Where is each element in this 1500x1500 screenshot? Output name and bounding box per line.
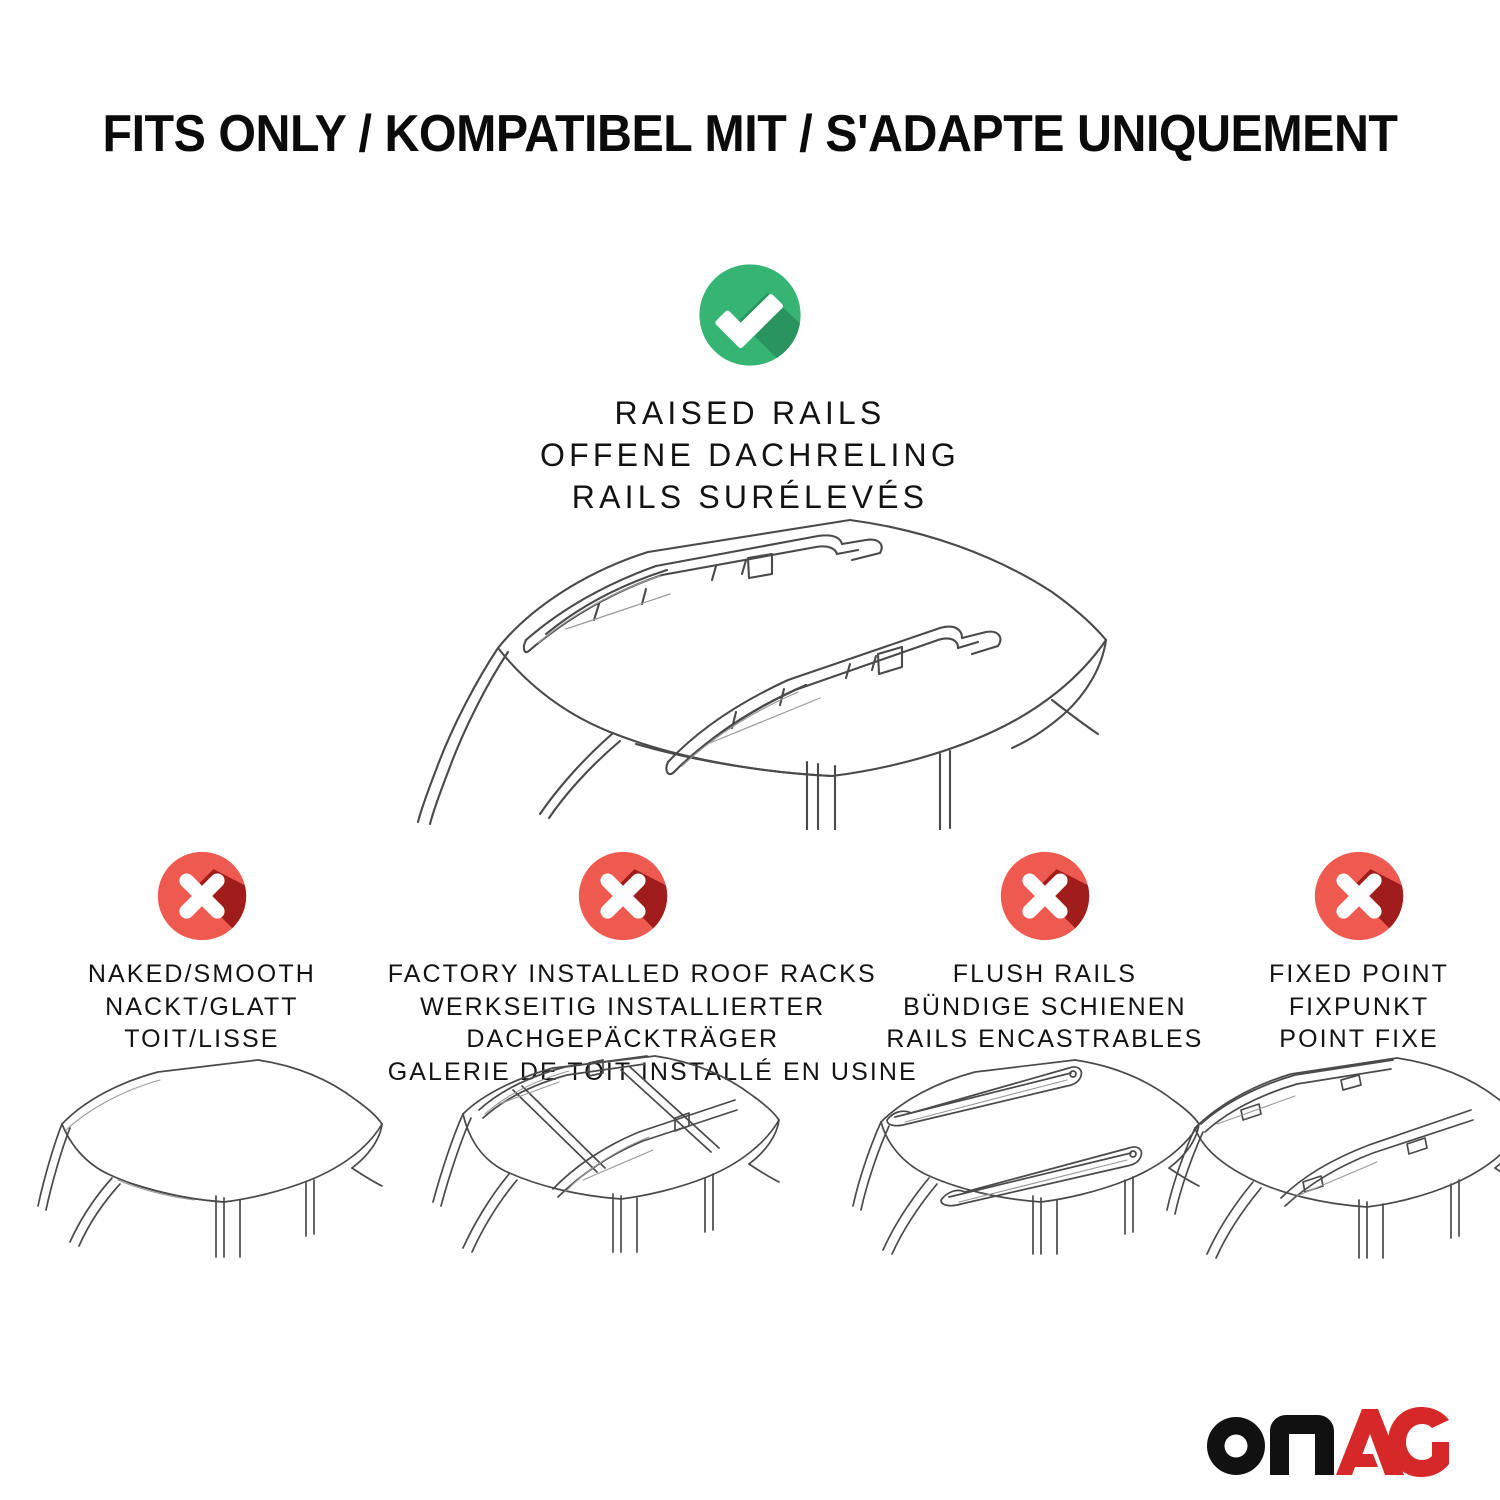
incompatible-diagrams (0, 1052, 1500, 1312)
omac-logo (1202, 1406, 1452, 1478)
caption-line: NACKT/GLATT (28, 991, 376, 1024)
incompatible-caption: FLUSH RAILS BÜNDIGE SCHIENEN RAILS ENCAS… (876, 958, 1214, 1056)
factory-roof-rack-diagram (425, 1052, 825, 1312)
incompatible-caption: FIXED POINT FIXPUNKT POINT FIXE (1218, 958, 1500, 1056)
compatible-caption-line-2: OFFENE DACHRELING (0, 434, 1500, 476)
logo-letter-o (1207, 1417, 1265, 1475)
raised-rails-roof-diagram (380, 500, 1120, 830)
caption-line: NAKED/SMOOTH (28, 958, 376, 991)
cross-circle-icon (997, 848, 1093, 944)
incompatible-item-naked-smooth: NAKED/SMOOTH NACKT/GLATT TOIT/LISSE (28, 848, 376, 1056)
incompatible-item-fixed-point: FIXED POINT FIXPUNKT POINT FIXE (1218, 848, 1500, 1056)
logo-letter-m (1270, 1415, 1334, 1475)
caption-line: FLUSH RAILS (876, 958, 1214, 991)
caption-line: WERKSEITIG INSTALLIERTER (388, 991, 858, 1024)
compatible-caption-line-1: RAISED RAILS (0, 392, 1500, 434)
caption-line: DACHGEPÄCKTRÄGER (388, 1023, 858, 1056)
caption-line: BÜNDIGE SCHIENEN (876, 991, 1214, 1024)
caption-line: FIXPUNKT (1218, 991, 1500, 1024)
cross-circle-icon (575, 848, 671, 944)
caption-line: TOIT/LISSE (28, 1023, 376, 1056)
caption-line: FIXED POINT (1218, 958, 1500, 991)
incompatible-caption: NAKED/SMOOTH NACKT/GLATT TOIT/LISSE (28, 958, 376, 1056)
page-title: FITS ONLY / KOMPATIBEL MIT / S'ADAPTE UN… (53, 104, 1448, 164)
caption-line: RAILS ENCASTRABLES (876, 1023, 1214, 1056)
incompatible-item-flush-rails: FLUSH RAILS BÜNDIGE SCHIENEN RAILS ENCAS… (876, 848, 1214, 1056)
cross-circle-icon (1311, 848, 1407, 944)
logo-letter-c (1388, 1407, 1449, 1477)
naked-smooth-roof-diagram (30, 1052, 430, 1312)
check-circle-icon (695, 260, 805, 370)
compatible-section: RAISED RAILS OFFENE DACHRELING RAILS SUR… (0, 260, 1500, 519)
caption-line: FACTORY INSTALLED ROOF RACKS (388, 958, 858, 991)
cross-circle-icon (154, 848, 250, 944)
caption-line: POINT FIXE (1218, 1023, 1500, 1056)
fixed-point-roof-diagram (1145, 1052, 1500, 1312)
